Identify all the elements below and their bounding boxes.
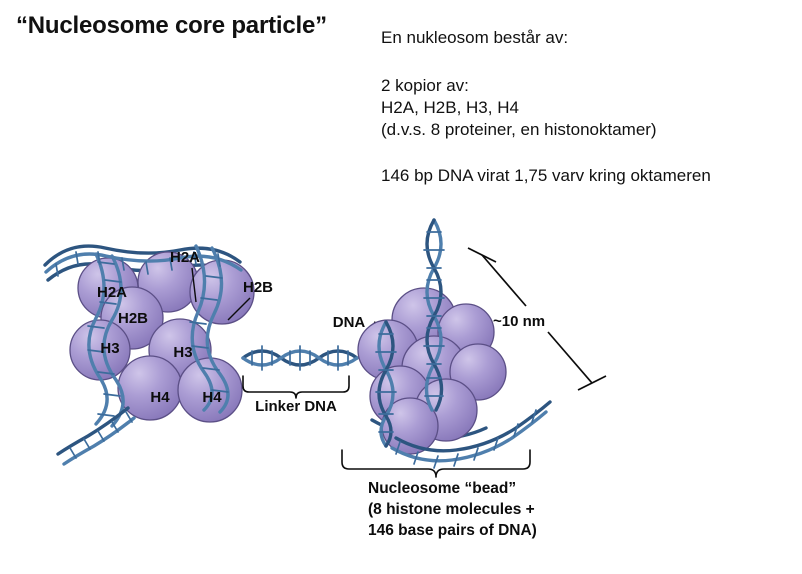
body-line-5: 146 bp DNA virat 1,75 varv kring oktamer…: [381, 166, 711, 186]
scale-bar-lower: [548, 332, 592, 383]
caption-line-2: (8 histone molecules +: [368, 501, 535, 518]
body-line-3: H2A, H2B, H3, H4: [381, 98, 519, 118]
nucleosome-caption-group: Nucleosome “bead” (8 histone molecules +…: [342, 450, 537, 539]
slide-canvas: “Nucleosome core particle” En nukleosom …: [0, 0, 802, 574]
label-h2b-right: H2B: [243, 279, 273, 296]
page-title: “Nucleosome core particle”: [16, 12, 327, 40]
label-scale: ~10 nm: [493, 313, 545, 330]
label-linker-dna: Linker DNA: [255, 398, 337, 415]
linker-dna: Linker DNA: [243, 346, 357, 415]
label-h2a-left: H2A: [97, 284, 127, 301]
label-h3-center: H3: [173, 344, 192, 361]
label-h2a-top: H2A: [170, 249, 200, 266]
label-h2b-inner: H2B: [118, 310, 148, 327]
body-line-4: (d.v.s. 8 proteiner, en histonoktamer): [381, 120, 657, 140]
body-line-2: 2 kopior av:: [381, 76, 469, 96]
nucleosome-diagram: H2A H2A H2B H2B H3 H3 H4 H4: [0, 210, 640, 550]
label-h3-left: H3: [100, 340, 119, 357]
caption-line-3: 146 base pairs of DNA): [368, 522, 537, 539]
body-line-1: En nukleosom består av:: [381, 28, 568, 48]
scale-bar-upper: [482, 255, 526, 306]
linker-brace: [243, 376, 349, 398]
caption-line-1: Nucleosome “bead”: [368, 480, 516, 497]
scale-bar-bottom-cap: [578, 376, 606, 390]
right-nucleosome: [358, 220, 550, 468]
label-h4-left: H4: [150, 389, 170, 406]
label-dna: DNA: [333, 314, 366, 331]
left-nucleosome: H2A H2A H2B H2B H3 H3 H4 H4: [45, 246, 273, 464]
label-h4-right: H4: [202, 389, 222, 406]
left-dna-tail: [58, 408, 134, 464]
